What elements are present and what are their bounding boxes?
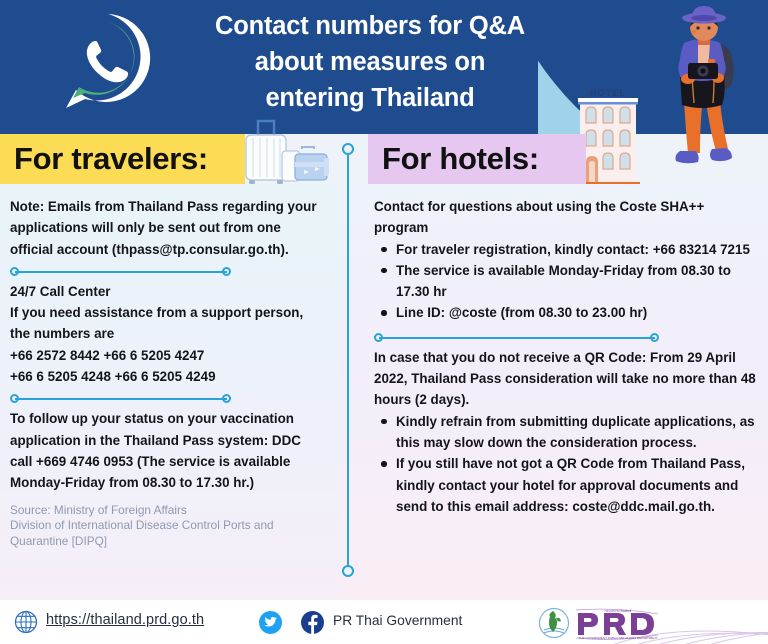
list-item: For traveler registration, kindly contac… xyxy=(396,239,758,260)
title-line-2: about measures on xyxy=(168,44,572,80)
divider-dot-bottom xyxy=(342,565,354,577)
qr-code-bullet-list: Kindly refrain from submitting duplicate… xyxy=(374,411,758,517)
title-line-1: Contact numbers for Q&A xyxy=(168,8,572,44)
twitter-icon[interactable] xyxy=(259,611,282,634)
hotel-sign-text: HOTEL xyxy=(590,88,627,98)
hotels-content: Contact for questions about using the Co… xyxy=(374,196,758,517)
prd-logo: กรมประชาสัมพันธ์ THE GOVERNMENT PUBLIC R… xyxy=(536,606,708,640)
source-line-1: Source: Ministry of Foreign Affairs xyxy=(10,503,326,519)
tourist-traveler-illustration xyxy=(648,5,766,177)
travelers-content: Note: Emails from Thailand Pass regardin… xyxy=(10,196,326,549)
list-item: Kindly refrain from submitting duplicate… xyxy=(396,411,758,454)
divider-dot-right xyxy=(222,267,231,276)
note-paragraph: Note: Emails from Thailand Pass regardin… xyxy=(10,196,326,260)
list-item: The service is available Monday-Friday f… xyxy=(396,260,758,303)
facebook-icon[interactable] xyxy=(301,611,324,634)
divider-dot-right xyxy=(650,333,659,342)
banner-travelers-label: For travelers: xyxy=(0,141,208,177)
coste-intro-paragraph: Contact for questions about using the Co… xyxy=(374,196,758,239)
banner-hotels-label: For hotels: xyxy=(368,141,539,177)
divider-dot-right xyxy=(222,394,231,403)
divider-line xyxy=(379,337,655,339)
footer-bar: https://thailand.prd.go.th PR Thai Gover… xyxy=(0,600,768,644)
divider-dot-left xyxy=(10,394,19,403)
title-line-3: entering Thailand xyxy=(168,80,572,116)
source-attribution: Source: Ministry of Foreign Affairs Divi… xyxy=(10,503,326,550)
banner-for-hotels: For hotels: xyxy=(368,134,586,184)
website-url-link[interactable]: https://thailand.prd.go.th xyxy=(46,612,204,628)
divider-line xyxy=(347,150,349,570)
banner-for-travelers: For travelers: xyxy=(0,134,245,184)
phone-numbers-line-1[interactable]: +66 2572 8442 +66 6 5205 4247 xyxy=(10,345,326,366)
divider-dot-top xyxy=(342,143,354,155)
prd-logo-thai: กรมประชาสัมพันธ์ xyxy=(604,609,631,613)
section-divider-1 xyxy=(10,265,326,279)
section-divider-3 xyxy=(374,331,758,345)
organization-label: PR Thai Government xyxy=(333,613,462,628)
qr-code-paragraph: In case that you do not receive a QR Cod… xyxy=(374,347,758,411)
divider-line xyxy=(15,271,227,273)
luggage-suitcases-illustration xyxy=(236,118,332,188)
prd-logo-subtitle: THE GOVERNMENT PUBLIC RELATIONS DEPARTME… xyxy=(579,636,658,640)
phone-numbers-line-2[interactable]: +66 6 5205 4248 +66 6 5205 4249 xyxy=(10,366,326,387)
call-center-heading: 24/7 Call Center xyxy=(10,281,326,302)
source-line-2: Division of International Disease Contro… xyxy=(10,518,326,549)
whatsapp-icon xyxy=(58,10,158,114)
divider-dot-left xyxy=(10,267,19,276)
infographic-root: Contact numbers for Q&A about measures o… xyxy=(0,0,768,644)
followup-paragraph: To follow up your status on your vaccina… xyxy=(10,408,326,493)
section-divider-2 xyxy=(10,392,326,406)
list-item: Line ID: @coste (from 08.30 to 23.00 hr) xyxy=(396,302,758,323)
divider-line xyxy=(15,398,227,400)
call-center-intro: If you need assistance from a support pe… xyxy=(10,302,326,345)
globe-icon xyxy=(14,610,38,634)
page-title: Contact numbers for Q&A about measures o… xyxy=(168,8,572,116)
divider-dot-left xyxy=(374,333,383,342)
list-item: If you still have not got a QR Code from… xyxy=(396,453,758,517)
hotel-contact-bullet-list: For traveler registration, kindly contac… xyxy=(374,239,758,324)
column-divider xyxy=(341,143,355,577)
